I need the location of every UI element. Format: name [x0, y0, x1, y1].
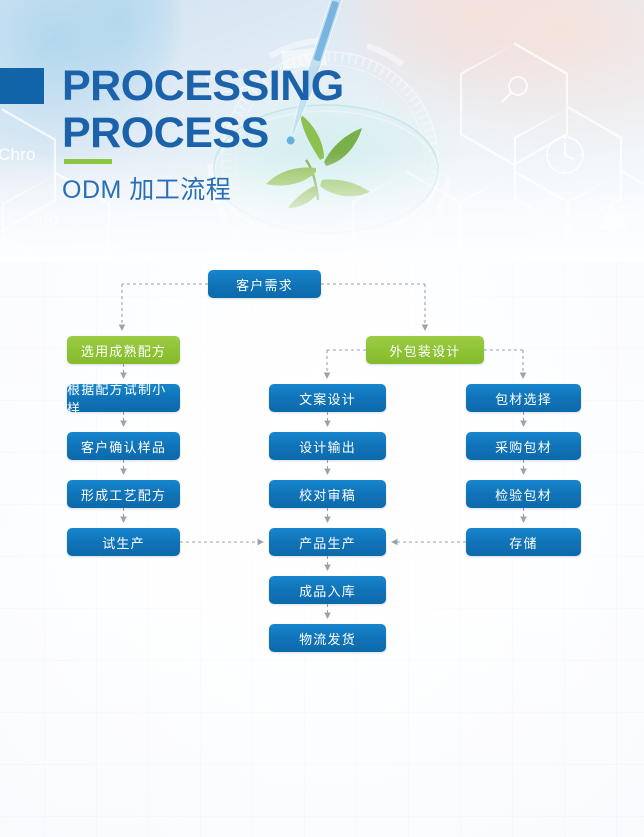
- flow-node-logistics-shipping[interactable]: 物流发货: [269, 624, 386, 652]
- flow-node-material-selection[interactable]: 包材选择: [466, 384, 581, 412]
- flow-node-inspect-material[interactable]: 检验包材: [466, 480, 581, 508]
- flow-node-form-process[interactable]: 形成工艺配方: [67, 480, 180, 508]
- flow-node-trial-sample[interactable]: 根据配方试制小样: [67, 384, 180, 412]
- flow-node-purchase-material[interactable]: 采购包材: [466, 432, 581, 460]
- flow-node-design-output[interactable]: 设计输出: [269, 432, 386, 460]
- flow-node-select-formula[interactable]: 选用成熟配方: [67, 336, 180, 364]
- flow-node-storage[interactable]: 存储: [466, 528, 581, 556]
- flow-node-customer-requirement[interactable]: 客户需求: [208, 270, 321, 298]
- flow-node-product-production[interactable]: 产品生产: [269, 528, 386, 556]
- flow-node-trial-production[interactable]: 试生产: [67, 528, 180, 556]
- flow-node-copy-design[interactable]: 文案设计: [269, 384, 386, 412]
- flow-node-finished-warehouse[interactable]: 成品入库: [269, 576, 386, 604]
- flow-node-customer-confirm[interactable]: 客户确认样品: [67, 432, 180, 460]
- flow-connectors: [0, 0, 644, 837]
- flow-node-package-design[interactable]: 外包装设计: [366, 336, 484, 364]
- flow-node-proofread[interactable]: 校对审稿: [269, 480, 386, 508]
- processing-process-page: Chro mo: [0, 0, 644, 837]
